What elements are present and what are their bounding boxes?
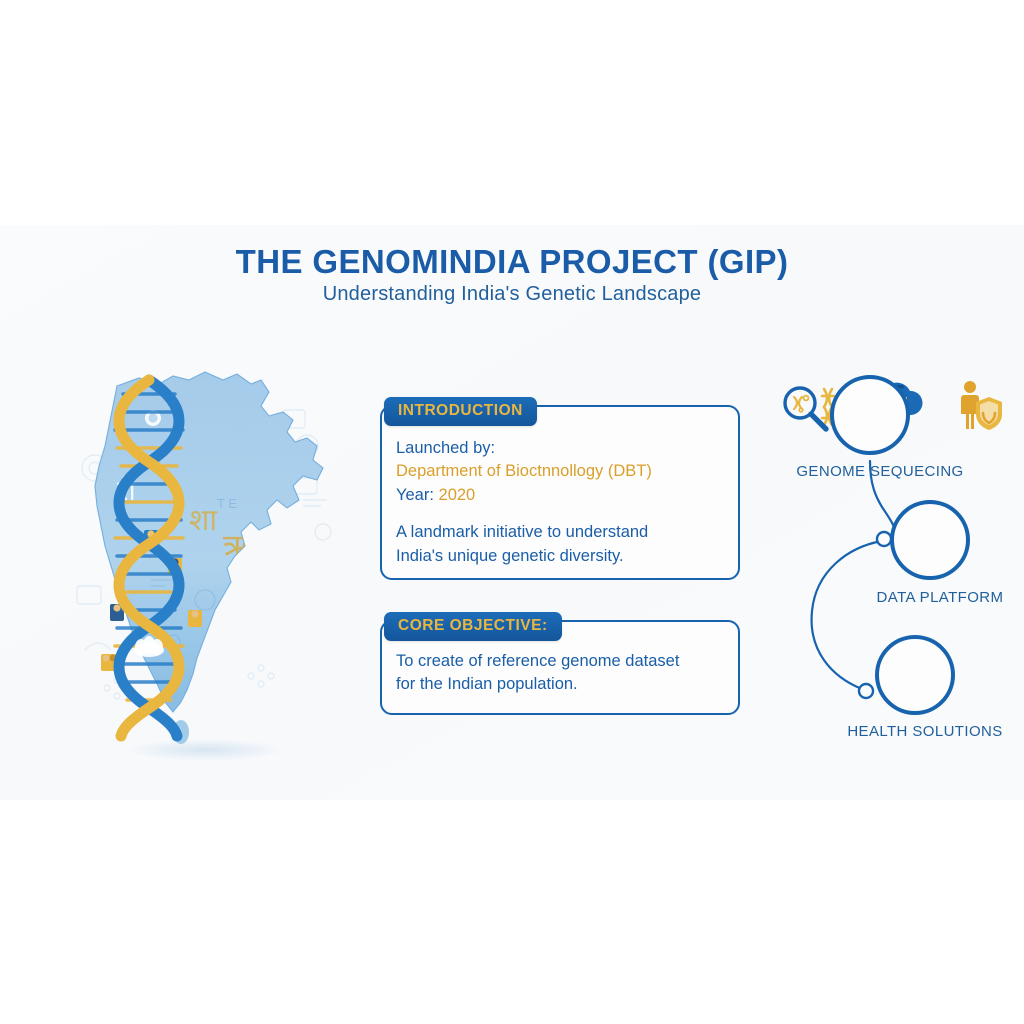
connector-node-upper xyxy=(877,532,891,546)
launching-organization: Department of Bioctnnollogy (DBT) xyxy=(396,460,726,483)
health-solutions-label: HEALTH SOLUTIONS xyxy=(775,723,1024,740)
illustration-shadow xyxy=(127,739,283,761)
introduction-description-line2: India's unique genetic diversity. xyxy=(396,545,726,568)
paragraph-spacer xyxy=(396,507,726,521)
health-solutions-ring xyxy=(875,635,955,715)
genome-sequencing-ring xyxy=(830,375,910,455)
svg-text:ऋा: ऋा xyxy=(223,527,262,567)
introduction-body: Launched by: Department of Bioctnnollogy… xyxy=(396,437,726,568)
infographic-canvas: THE GENOMINDIA PROJECT (GIP) Understandi… xyxy=(0,0,1024,1024)
genome-sequencing-label: GENOME SEQUECING xyxy=(730,463,1024,480)
core-objective-line1: To create of reference genome dataset xyxy=(396,650,726,673)
svg-text:T E: T E xyxy=(217,496,237,511)
data-platform-ring xyxy=(890,500,970,580)
year-row: Year: 2020 xyxy=(396,484,726,507)
infographic-band: THE GENOMINDIA PROJECT (GIP) Understandi… xyxy=(0,225,1024,800)
svg-text:शा: शा xyxy=(189,503,218,538)
launched-by-label: Launched by: xyxy=(396,437,726,460)
core-objective-body: To create of reference genome dataset fo… xyxy=(396,650,726,697)
introduction-card: Launched by: Department of Bioctnnollogy… xyxy=(380,405,740,580)
year-value: 2020 xyxy=(439,486,476,504)
page-subtitle: Understanding India's Genetic Landscape xyxy=(0,283,1024,306)
introduction-description-line1: A landmark initiative to understand xyxy=(396,521,726,544)
india-dna-illustration: री शा ऋा T E xyxy=(55,350,355,770)
data-platform-label: DATA PLATFORM xyxy=(790,589,1024,606)
year-label: Year: xyxy=(396,486,434,504)
connector-node-lower xyxy=(859,684,873,698)
core-objective-tab[interactable]: CORE OBJECTIVE: xyxy=(384,612,562,641)
introduction-tab[interactable]: INTRODUCTION xyxy=(384,397,537,426)
pillars-group: GENOME SEQUECING xyxy=(770,365,1024,795)
page-title: THE GENOMINDIA PROJECT (GIP) xyxy=(0,243,1024,281)
core-objective-line2: for the Indian population. xyxy=(396,673,726,696)
